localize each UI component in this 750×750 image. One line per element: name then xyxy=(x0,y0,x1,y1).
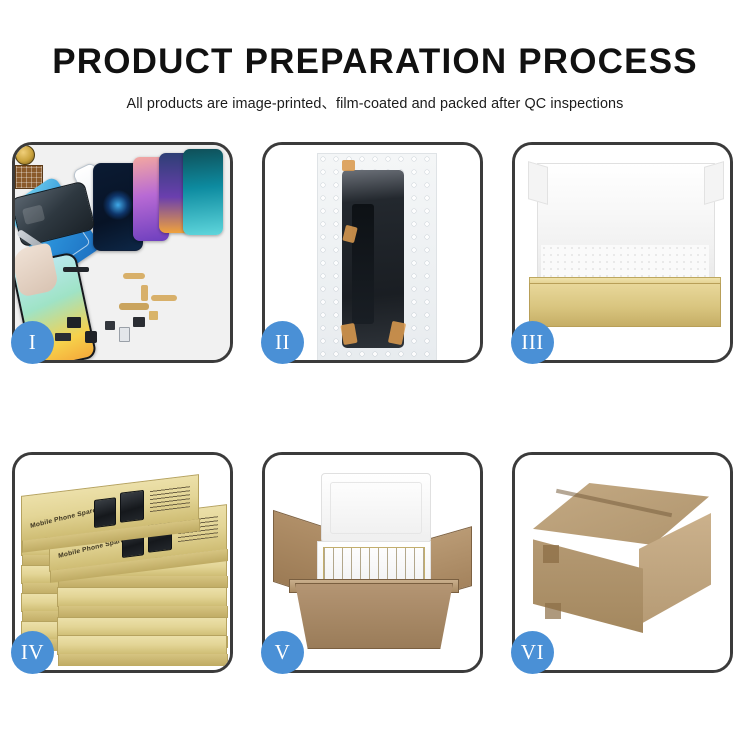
ic-chip-part-c xyxy=(105,321,115,330)
kraft-inner-box xyxy=(529,283,721,327)
outer-carton-open xyxy=(295,583,453,649)
kraft-box-front-4 xyxy=(57,617,227,637)
page-header: PRODUCT PREPARATION PROCESS All products… xyxy=(0,0,750,113)
kraft-box-top-1: Mobile Phone Spare Parts xyxy=(21,474,199,542)
process-step-card-1[interactable]: I xyxy=(12,142,233,363)
process-step-card-5[interactable]: V xyxy=(262,452,483,673)
earpiece-mesh-part xyxy=(63,267,89,272)
step-badge-1: I xyxy=(11,321,54,364)
kraft-box-front-5 xyxy=(57,635,227,655)
box-screen-thumb-1b xyxy=(120,490,144,523)
flex-cable-part-d xyxy=(151,295,177,301)
step-badge-4: IV xyxy=(11,631,54,674)
page-title: PRODUCT PREPARATION PROCESS xyxy=(0,0,750,81)
process-step-card-4[interactable]: Mobile Phone Spare Parts Mobile Phone Sp… xyxy=(12,452,233,673)
kraft-box-stack: Mobile Phone Spare Parts Mobile Phone Sp… xyxy=(21,479,229,655)
step-badge-5: V xyxy=(261,631,304,674)
process-step-card-3[interactable]: III xyxy=(512,142,733,363)
page-subtitle: All products are image-printed、film-coat… xyxy=(0,81,750,113)
ic-chip-part-a xyxy=(67,317,81,328)
flex-cable-part-a xyxy=(123,273,145,279)
sim-tray-part xyxy=(119,327,130,342)
process-step-grid: I II I xyxy=(12,142,734,674)
step-badge-6: VI xyxy=(511,631,554,674)
tape-piece-1 xyxy=(342,160,355,171)
box-screen-thumb-1a xyxy=(94,497,116,528)
ic-chip-part-e xyxy=(55,333,71,341)
gold-connector-part xyxy=(149,311,158,320)
step-badge-3: III xyxy=(511,321,554,364)
bubble-wrap-bag xyxy=(317,153,437,360)
carton-tape-tab-1 xyxy=(543,545,559,563)
kraft-box-front-3 xyxy=(57,587,227,607)
ic-chip-part-d xyxy=(133,317,145,327)
carton-tape-tab-2 xyxy=(545,603,561,619)
flex-cable-part-b xyxy=(141,285,148,301)
copper-coil-part xyxy=(15,145,35,165)
box-spec-lines-1 xyxy=(150,485,190,512)
teal-phone-screen xyxy=(183,149,223,235)
ic-chip-part-b xyxy=(85,331,97,343)
flex-cable-part-c xyxy=(119,303,149,310)
process-step-card-6[interactable]: VI xyxy=(512,452,733,673)
step-badge-2: II xyxy=(261,321,304,364)
process-step-card-2[interactable]: II xyxy=(262,142,483,363)
foam-cooler-lid xyxy=(321,473,431,543)
